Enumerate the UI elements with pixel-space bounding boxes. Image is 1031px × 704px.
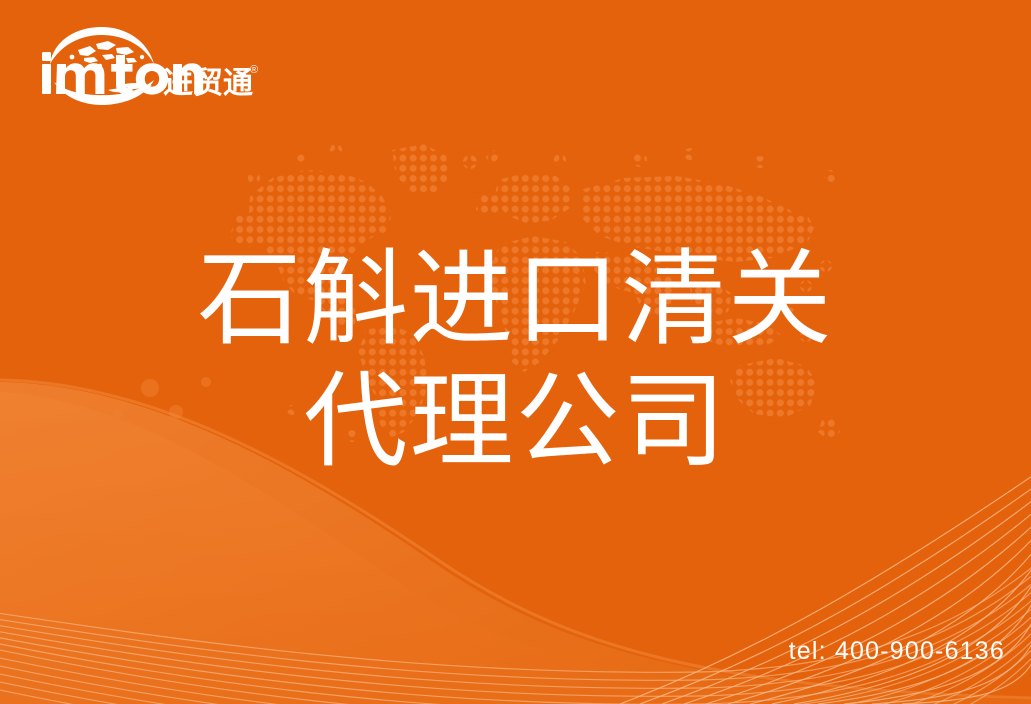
logo-wordmark-chinese: 进贸通 (163, 69, 253, 99)
page-title-line-1: 石斛进口清关 (0, 238, 1031, 360)
contact-phone[interactable]: tel: 400-900-6136 (789, 636, 1005, 666)
page-title: 石斛进口清关 代理公司 (0, 238, 1031, 482)
page-title-line-2: 代理公司 (0, 360, 1031, 482)
trademark-symbol: ® (250, 65, 258, 76)
poster-canvas: 进贸通 ® 石斛进口清关 代理公司 tel: 400-900-6136 (0, 0, 1031, 704)
brand-logo[interactable]: 进贸通 ® (38, 24, 268, 110)
